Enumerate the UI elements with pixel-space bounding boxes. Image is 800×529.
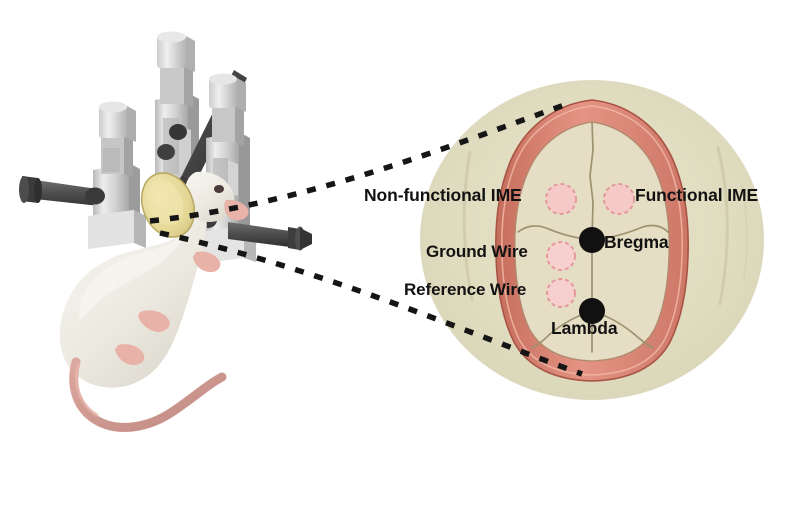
label-reference-wire: Reference Wire [404,281,526,298]
label-functional-ime: Functional IME [635,187,758,205]
label-non-functional-ime: Non-functional IME [364,187,522,205]
label-lambda: Lambda [551,320,618,338]
magnification-guide-lines [0,0,800,529]
label-ground-wire: Ground Wire [426,243,528,260]
figure-root: Non-functional IME Functional IME Ground… [0,0,800,529]
label-bregma: Bregma [604,234,669,252]
